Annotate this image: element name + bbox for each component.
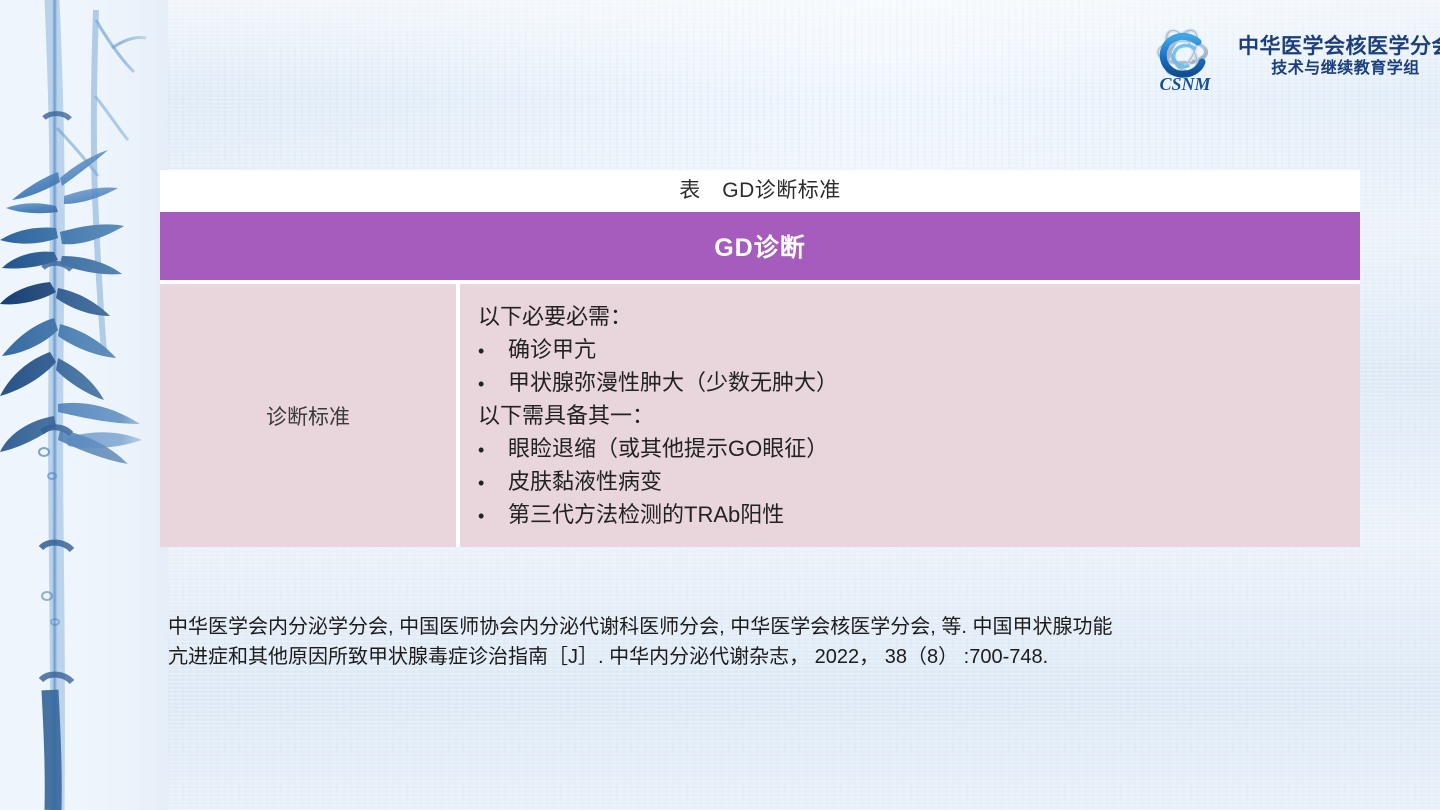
table-header-label: GD诊断 xyxy=(714,228,806,264)
bullet-icon: • xyxy=(478,371,508,398)
citation-line-2: 亢进症和其他原因所致甲状腺毒症诊治指南［J］. 中华内分泌代谢杂志， 2022，… xyxy=(168,642,1348,672)
csnm-atom-emblem: CSNM xyxy=(1142,20,1228,94)
table-cell-row-label: 诊断标准 xyxy=(160,284,460,547)
list-item: • 皮肤黏液性病变 xyxy=(470,465,1360,498)
bullet-icon: • xyxy=(478,503,508,530)
slide-canvas: CSNM 中华医学会核医学分会 技术与继续教育学组 表 GD诊断标准 GD诊断 … xyxy=(0,0,1440,810)
list-item-label: 第三代方法检测的TRAb阳性 xyxy=(508,498,1360,531)
csnm-logo: CSNM 中华医学会核医学分会 技术与继续教育学组 xyxy=(1142,18,1430,96)
list-item-label: 皮肤黏液性病变 xyxy=(508,465,1360,498)
logo-org-name: 中华医学会核医学分会 xyxy=(1238,35,1440,60)
citation-block: 中华医学会内分泌学分会, 中国医师协会内分泌代谢科医师分会, 中华医学会核医学分… xyxy=(168,612,1348,673)
table-header-row: GD诊断 xyxy=(160,212,1360,280)
citation-line-1: 中华医学会内分泌学分会, 中国医师协会内分泌代谢科医师分会, 中华医学会核医学分… xyxy=(168,612,1348,642)
bamboo-decoration xyxy=(0,0,168,810)
gd-diagnosis-table: 表 GD诊断标准 GD诊断 诊断标准 以下必要必需： • 确诊甲亢 • 甲状腺弥… xyxy=(160,170,1360,547)
logo-subgroup-name: 技术与继续教育学组 xyxy=(1271,60,1420,79)
criteria-heading: 以下需具备其一： xyxy=(470,399,1360,432)
list-item: • 确诊甲亢 xyxy=(470,333,1360,366)
table-cell-criteria: 以下必要必需： • 确诊甲亢 • 甲状腺弥漫性肿大（少数无肿大） 以下需具备其一… xyxy=(460,284,1360,547)
bullet-icon: • xyxy=(478,437,508,464)
bullet-icon: • xyxy=(478,338,508,365)
criteria-heading: 以下必要必需： xyxy=(470,300,1360,333)
list-item-label: 甲状腺弥漫性肿大（少数无肿大） xyxy=(508,366,1360,399)
logo-text-block: 中华医学会核医学分会 技术与继续教育学组 xyxy=(1238,35,1440,79)
svg-text:CSNM: CSNM xyxy=(1159,74,1211,94)
list-item: • 甲状腺弥漫性肿大（少数无肿大） xyxy=(470,366,1360,399)
list-item: • 第三代方法检测的TRAb阳性 xyxy=(470,498,1360,531)
list-item: • 眼睑退缩（或其他提示GO眼征） xyxy=(470,432,1360,465)
bullet-icon: • xyxy=(478,470,508,497)
table-row: 诊断标准 以下必要必需： • 确诊甲亢 • 甲状腺弥漫性肿大（少数无肿大） 以下… xyxy=(160,284,1360,547)
list-item-label: 确诊甲亢 xyxy=(508,333,1360,366)
row-label-text: 诊断标准 xyxy=(266,401,350,431)
table-caption: 表 GD诊断标准 xyxy=(160,170,1360,212)
list-item-label: 眼睑退缩（或其他提示GO眼征） xyxy=(508,432,1360,465)
